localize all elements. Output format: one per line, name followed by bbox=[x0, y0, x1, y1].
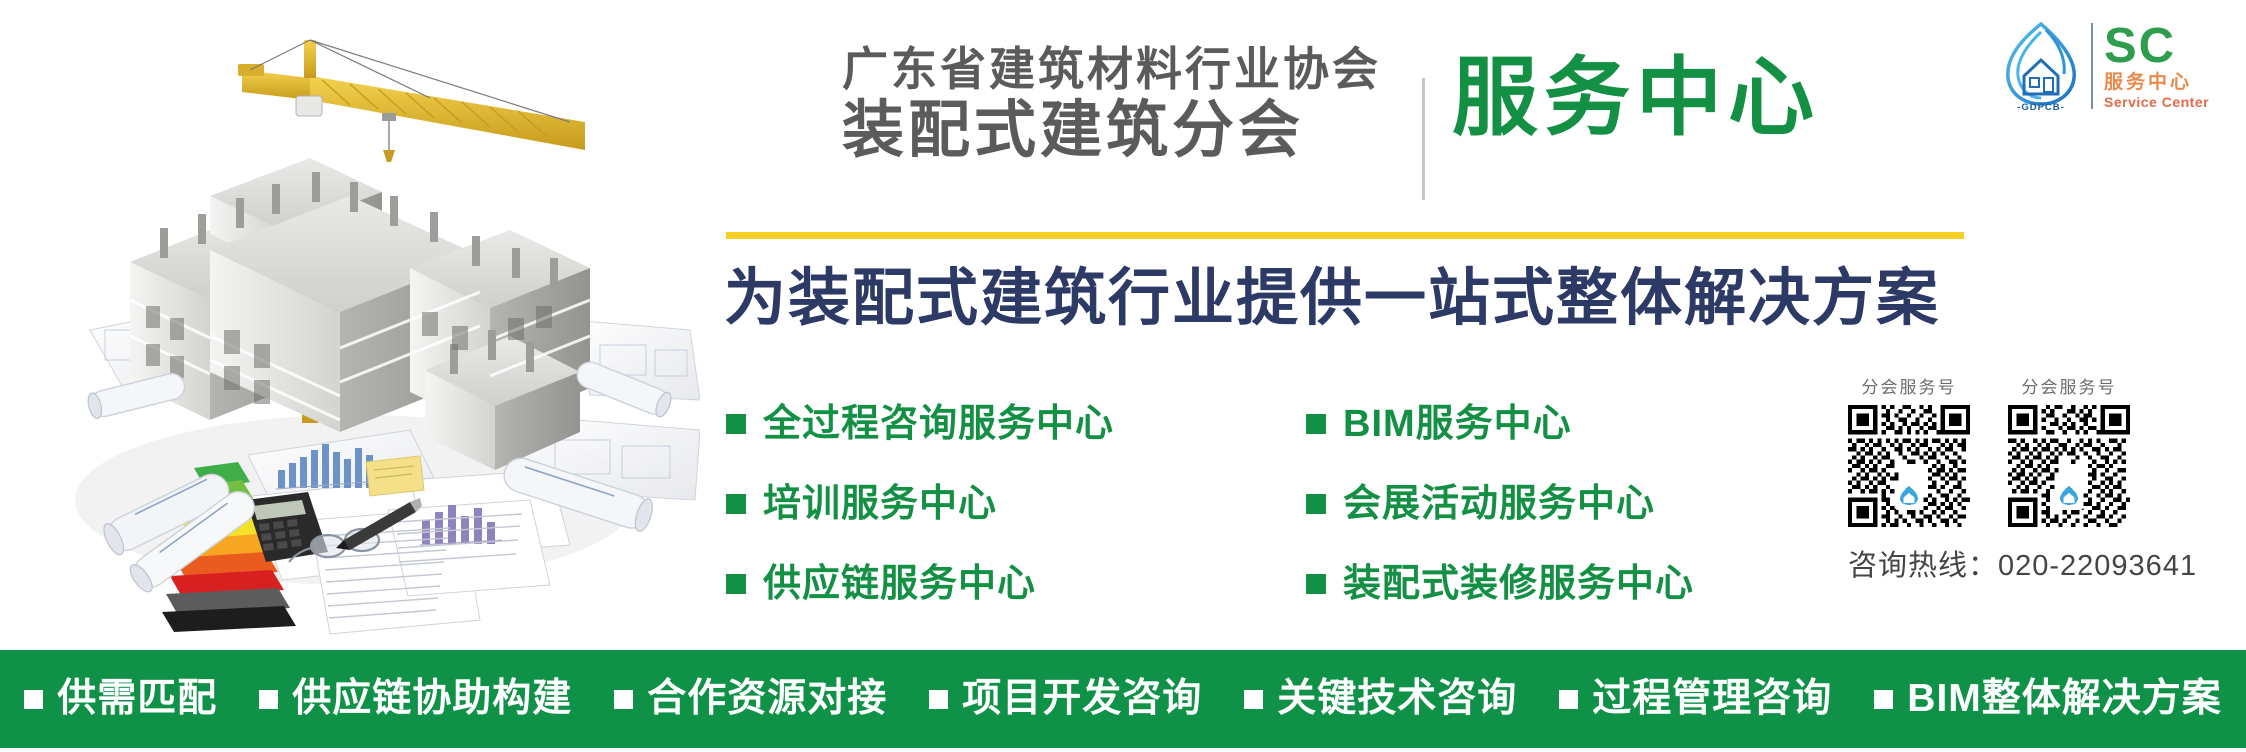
service-item-label: BIM服务中心 bbox=[1343, 402, 1572, 446]
square-bullet-icon bbox=[24, 690, 43, 709]
square-bullet-icon bbox=[726, 494, 746, 514]
service-item-label: 装配式装修服务中心 bbox=[1343, 562, 1694, 606]
list-item[interactable]: 供需匹配 bbox=[24, 676, 217, 722]
keyword-label: 供应链协助构建 bbox=[292, 676, 572, 722]
association-title: 广东省建筑材料行业协会 装配式建筑分会 bbox=[842, 42, 1422, 166]
service-item-label: 全过程咨询服务中心 bbox=[763, 402, 1114, 446]
keyword-label: BIM整体解决方案 bbox=[1907, 676, 2222, 722]
main-slogan: 为装配式建筑行业提供一站式整体解决方案 bbox=[724, 262, 1940, 336]
svg-text:-GDPCB-: -GDPCB- bbox=[2017, 102, 2065, 112]
square-bullet-icon bbox=[614, 690, 633, 709]
service-center-heading: 服务中心 bbox=[1452, 48, 1820, 148]
service-list-right-column: BIM服务中心 会展活动服务中心 装配式装修服务中心 bbox=[1306, 402, 1736, 606]
qr-card[interactable]: 分会服务号 bbox=[2008, 378, 2130, 527]
association-name-line2: 装配式建筑分会 bbox=[842, 96, 1422, 166]
square-bullet-icon bbox=[1559, 690, 1578, 709]
service-keywords-bar: 供需匹配 供应链协助构建 合作资源对接 项目开发咨询 关键技术咨询 过程管理咨询 bbox=[0, 650, 2246, 748]
keyword-label: 合作资源对接 bbox=[647, 676, 887, 722]
square-bullet-icon bbox=[726, 574, 746, 594]
service-item-label: 培训服务中心 bbox=[763, 482, 997, 526]
square-bullet-icon bbox=[1244, 690, 1263, 709]
logo-english-label: Service Center bbox=[2104, 94, 2209, 110]
square-bullet-icon bbox=[1874, 690, 1893, 709]
hero-construction-illustration bbox=[10, 0, 700, 640]
qr-card[interactable]: 分会服务号 bbox=[1848, 378, 1970, 527]
list-item[interactable]: BIM服务中心 bbox=[1306, 402, 1736, 446]
qr-caption: 分会服务号 bbox=[1862, 378, 1957, 398]
square-bullet-icon bbox=[929, 690, 948, 709]
logo-chinese-label: 服务中心 bbox=[2104, 72, 2209, 94]
list-item[interactable]: 供应链协助构建 bbox=[259, 676, 572, 722]
square-bullet-icon bbox=[1306, 574, 1326, 594]
list-item[interactable]: 过程管理咨询 bbox=[1559, 676, 1832, 722]
gdpcb-flame-house-icon: -GDPCB- bbox=[1996, 20, 2086, 112]
service-item-label: 供应链服务中心 bbox=[763, 562, 1036, 606]
service-list-left-column: 全过程咨询服务中心 培训服务中心 供应链服务中心 bbox=[726, 402, 1156, 606]
qr-caption: 分会服务号 bbox=[2022, 378, 2117, 398]
square-bullet-icon bbox=[1306, 494, 1326, 514]
keyword-label: 项目开发咨询 bbox=[962, 676, 1202, 722]
keyword-label: 供需匹配 bbox=[57, 676, 217, 722]
square-bullet-icon bbox=[259, 690, 278, 709]
promotional-banner: 广东省建筑材料行业协会 装配式建筑分会 服务中心 为装配式建筑行业提供一站式整体… bbox=[0, 0, 2246, 752]
building-structure bbox=[130, 158, 590, 470]
sticky-note bbox=[366, 456, 424, 496]
keyword-label: 关键技术咨询 bbox=[1277, 676, 1517, 722]
list-item[interactable]: 培训服务中心 bbox=[726, 482, 1156, 526]
qr-code-image-2[interactable] bbox=[2008, 405, 2130, 527]
logo-divider bbox=[2091, 23, 2093, 109]
list-item[interactable]: 全过程咨询服务中心 bbox=[726, 402, 1156, 446]
list-item[interactable]: 关键技术咨询 bbox=[1244, 676, 1517, 722]
hotline-text: 咨询热线：020-22093641 bbox=[1848, 548, 2197, 584]
gold-divider-rule bbox=[726, 232, 1964, 239]
brand-logo[interactable]: -GDPCB- SC 服务中心 Service Center bbox=[1996, 18, 2226, 114]
logo-wordmark: SC 服务中心 Service Center bbox=[2104, 22, 2209, 110]
service-item-label: 会展活动服务中心 bbox=[1343, 482, 1655, 526]
list-item[interactable]: 装配式装修服务中心 bbox=[1306, 562, 1736, 606]
qr-code-section: 分会服务号 bbox=[1848, 378, 2220, 527]
square-bullet-icon bbox=[1306, 414, 1326, 434]
qr-code-image-1[interactable] bbox=[1848, 405, 1970, 527]
title-vertical-divider bbox=[1422, 78, 1425, 200]
association-name-line1: 广东省建筑材料行业协会 bbox=[842, 42, 1422, 96]
list-item[interactable]: 会展活动服务中心 bbox=[1306, 482, 1736, 526]
keyword-label: 过程管理咨询 bbox=[1592, 676, 1832, 722]
list-item[interactable]: 项目开发咨询 bbox=[929, 676, 1202, 722]
list-item[interactable]: 供应链服务中心 bbox=[726, 562, 1156, 606]
logo-sc-initials: SC bbox=[2104, 22, 2209, 70]
square-bullet-icon bbox=[726, 414, 746, 434]
service-center-list: 全过程咨询服务中心 培训服务中心 供应链服务中心 BIM服务中心 会展活动服务中… bbox=[726, 402, 1786, 606]
list-item[interactable]: BIM整体解决方案 bbox=[1874, 676, 2222, 722]
list-item[interactable]: 合作资源对接 bbox=[614, 676, 887, 722]
